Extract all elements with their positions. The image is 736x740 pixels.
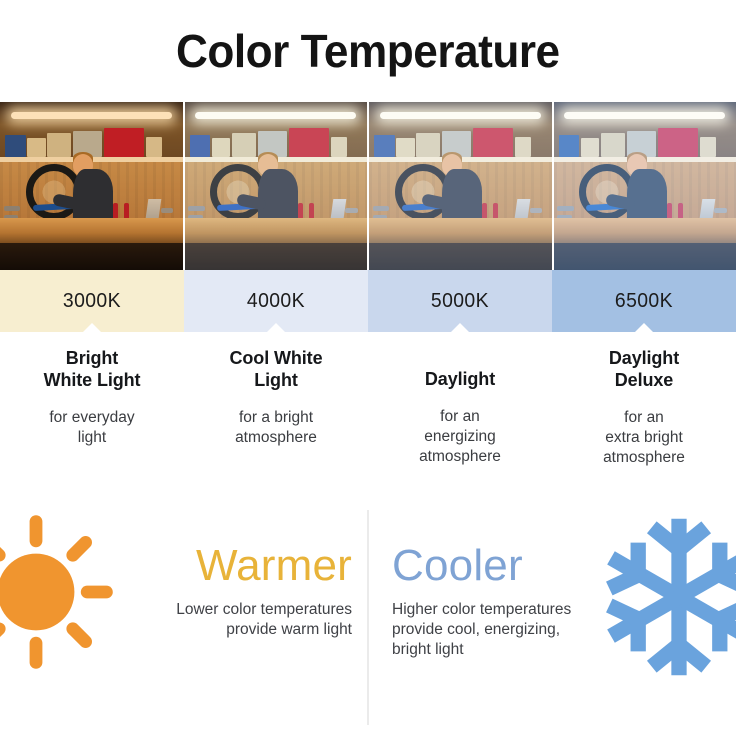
photo-panel-4000k [185,102,370,270]
warmer-heading: Warmer [52,544,352,588]
cooler-copy-line: bright light [392,641,464,658]
kelvin-swatch-3000k[interactable]: 3000K [0,270,184,332]
description-column-4000k: Cool White Light for a bright atmosphere [184,348,368,468]
snowflake-icon [594,512,736,682]
photo-panel-5000k [369,102,554,270]
description-subtitle-line: atmosphere [235,429,317,446]
warmer-copy: Lower color temperatures provide warm li… [52,600,352,640]
kelvin-label: 4000K [247,290,305,313]
description-title: Daylight Deluxe [564,348,724,392]
description-subtitle-line: for a bright [239,409,313,426]
kelvin-swatch-4000k[interactable]: 4000K [184,270,368,332]
description-subtitle-line: for an [624,409,664,426]
description-subtitle: for a bright atmosphere [196,408,356,448]
pointer-notch-icon [267,323,285,332]
description-row: Bright White Light for everyday light Co… [0,332,736,468]
description-subtitle: for an energizing atmosphere [380,407,540,467]
cooler-half: Cooler Higher color temperatures provide… [368,504,736,740]
warmer-text-block: Warmer Lower color temperatures provide … [52,544,352,640]
description-title-line: White Light [44,370,141,390]
page-title: Color Temperature [176,28,560,74]
description-column-5000k: Daylight for an energizing atmosphere [368,348,552,468]
description-subtitle-line: for everyday [49,409,134,426]
photo-panel-3000k [0,102,185,270]
description-title-line: Deluxe [615,370,673,390]
description-subtitle-line: atmosphere [603,449,685,466]
photo-panel-6500k [554,102,736,270]
color-tint-overlay [369,102,552,270]
description-title: Bright White Light [12,348,172,392]
kelvin-swatch-band: 3000K 4000K 5000K 6500K [0,270,736,332]
description-subtitle-line: light [78,429,106,446]
description-title: Cool White Light [196,348,356,392]
kelvin-swatch-5000k[interactable]: 5000K [368,270,552,332]
description-title: Daylight [380,348,540,391]
pointer-notch-icon [635,323,653,332]
description-title-line: Cool White [230,348,323,368]
cooler-copy-line: provide cool, energizing, [392,621,560,638]
description-title-line: Daylight [609,348,679,368]
kelvin-label: 6500K [615,290,673,313]
description-column-3000k: Bright White Light for everyday light [0,348,184,468]
pointer-notch-icon [451,323,469,332]
pointer-notch-icon [83,323,101,332]
color-tint-overlay [0,102,183,270]
description-subtitle-line: extra bright [605,429,683,446]
description-subtitle: for an extra bright atmosphere [564,408,724,468]
description-column-6500k: Daylight Deluxe for an extra bright atmo… [552,348,736,468]
kelvin-label: 3000K [63,290,121,313]
warmer-half: Warmer Lower color temperatures provide … [0,504,368,740]
warmer-copy-line: provide warm light [226,621,352,638]
photo-strip [0,102,736,270]
description-subtitle: for everyday light [12,408,172,448]
description-subtitle-line: atmosphere [419,448,501,465]
warmer-copy-line: Lower color temperatures [176,601,352,618]
color-tint-overlay [554,102,736,270]
description-subtitle-line: for an [440,408,480,425]
cooler-copy-line: Higher color temperatures [392,601,571,618]
title-bar: Color Temperature [0,0,736,102]
kelvin-label: 5000K [431,290,489,313]
description-subtitle-line: energizing [424,428,496,445]
color-tint-overlay [185,102,368,270]
description-title-line: Bright [66,348,118,368]
warm-cool-section: Warmer Lower color temperatures provide … [0,504,736,740]
description-title-line: Daylight [425,369,495,389]
description-title-line: Light [254,370,297,390]
kelvin-swatch-6500k[interactable]: 6500K [552,270,736,332]
